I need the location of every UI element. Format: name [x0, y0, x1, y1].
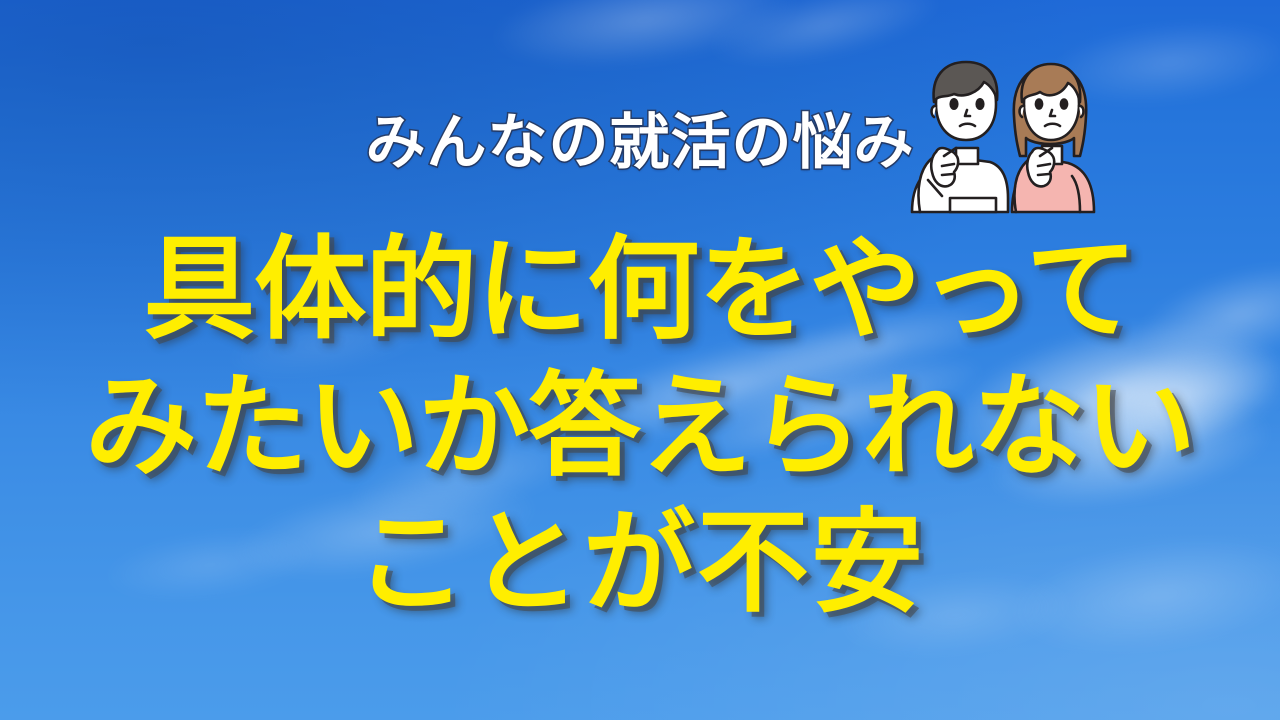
man-eye-right: [975, 98, 984, 110]
thinking-people-illustration: [898, 52, 1110, 214]
man-sleeve: [950, 198, 996, 212]
slide-root: みんなの就活の悩み: [0, 0, 1280, 720]
headline-line-3: ことが不安: [0, 495, 1280, 632]
headline: 具体的に何をやって みたいか答えられない ことが不安: [0, 222, 1280, 632]
man-eye-left: [949, 98, 958, 110]
headline-line-2: みたいか答えられない: [0, 359, 1280, 496]
eyebrow-heading: みんなの就活の悩み: [366, 112, 915, 175]
thinking-people-icon: [898, 52, 1110, 214]
woman-eye-right: [1060, 98, 1069, 110]
woman-hand: [1027, 148, 1054, 186]
headline-line-1: 具体的に何をやって: [0, 222, 1280, 359]
woman-eye-left: [1035, 98, 1044, 110]
man-hand: [931, 148, 958, 186]
man-finger-3: [942, 174, 953, 175]
woman-finger-3: [1038, 174, 1049, 175]
